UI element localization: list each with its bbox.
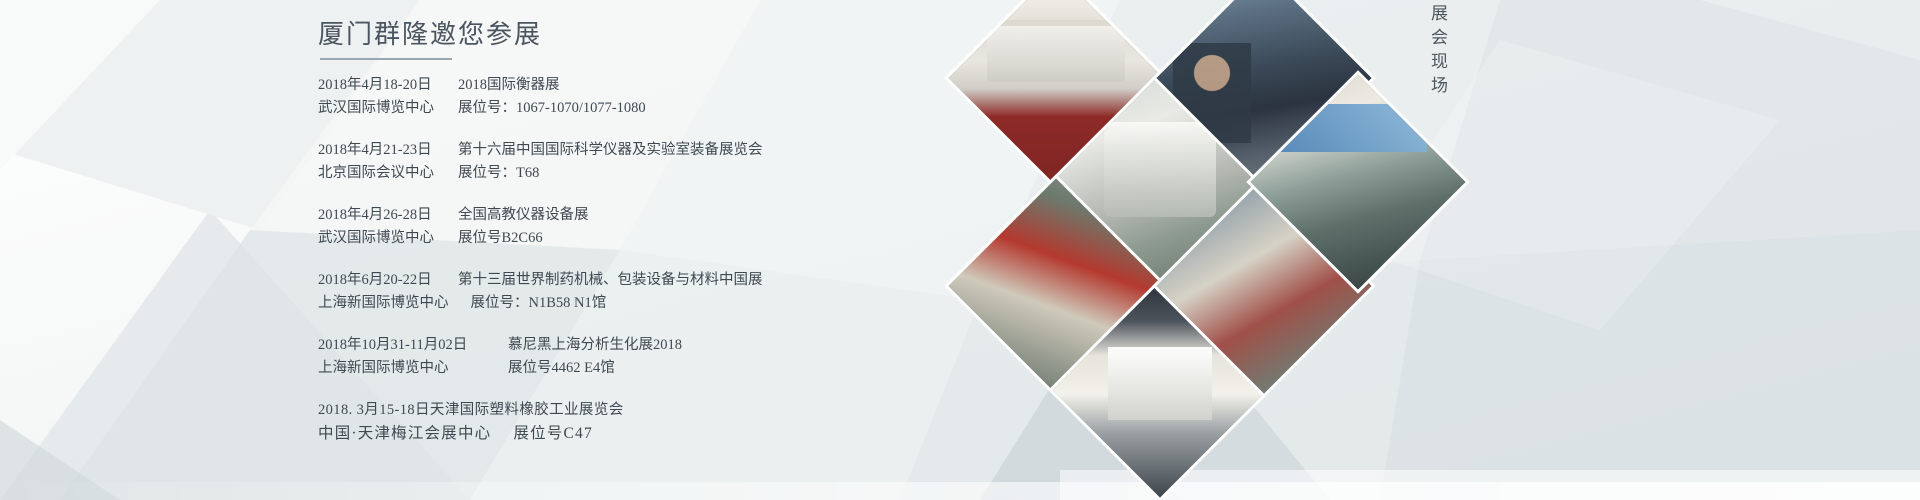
event-line-venue-booth: 中国·天津梅江会展中心展位号C47 bbox=[318, 422, 1078, 445]
gallery-vertical-label: 展会现场 bbox=[1425, 4, 1450, 100]
event-line-date-name: 2018年4月18-20日2018国际衡器展 bbox=[318, 74, 1078, 97]
event-line-date-name: 2018年10月31-11月02日慕尼黑上海分析生化展2018 bbox=[318, 334, 1078, 357]
event-booth: 展位号：T68 bbox=[458, 165, 539, 181]
event-line-venue-booth: 武汉国际博览中心展位号B2C66 bbox=[318, 227, 1078, 250]
event-item-2: 2018年4月21-23日第十六届中国国际科学仪器及实验室装备展览会 北京国际会… bbox=[318, 139, 1078, 185]
event-date: 2018. 3月15-18日天津国际塑料橡胶工业展览会 bbox=[318, 402, 624, 418]
event-line-date-name: 2018年4月26-28日全国高教仪器设备展 bbox=[318, 204, 1078, 227]
event-venue: 上海新国际博览中心 bbox=[318, 292, 449, 315]
event-date: 2018年4月21-23日 bbox=[318, 139, 436, 162]
page-title: 厦门群隆邀您参展 bbox=[318, 18, 1078, 52]
event-booth: 展位号4462 E4馆 bbox=[508, 360, 615, 376]
event-line-date-name: 2018年4月21-23日第十六届中国国际科学仪器及实验室装备展览会 bbox=[318, 139, 1078, 162]
signboard-company: 厦门群隆仪器有限公司 bbox=[970, 0, 1143, 1]
event-booth: 展位号C47 bbox=[513, 425, 593, 442]
event-item-3: 2018年4月26-28日全国高教仪器设备展 武汉国际博览中心展位号B2C66 bbox=[318, 204, 1078, 250]
event-line-venue-booth: 上海新国际博览中心展位号4462 E4馆 bbox=[318, 357, 1078, 380]
event-booth: 展位号：1067-1070/1077-1080 bbox=[458, 100, 646, 116]
event-item-1: 2018年4月18-20日2018国际衡器展 武汉国际博览中心展位号：1067-… bbox=[318, 74, 1078, 120]
event-venue: 上海新国际博览中心 bbox=[318, 357, 486, 380]
event-venue: 北京国际会议中心 bbox=[318, 162, 436, 185]
event-name: 第十三届世界制药机械、包装设备与材料中国展 bbox=[458, 272, 763, 288]
event-date: 2018年4月26-28日 bbox=[318, 204, 436, 227]
event-line-date-name: 2018. 3月15-18日天津国际塑料橡胶工业展览会 bbox=[318, 399, 1078, 422]
event-item-6: 2018. 3月15-18日天津国际塑料橡胶工业展览会 中国·天津梅江会展中心展… bbox=[318, 399, 1078, 445]
event-list-panel: 厦门群隆邀您参展 2018年4月18-20日2018国际衡器展 武汉国际博览中心… bbox=[318, 18, 1078, 488]
event-line-venue-booth: 武汉国际博览中心展位号：1067-1070/1077-1080 bbox=[318, 97, 1078, 120]
event-booth: 展位号B2C66 bbox=[458, 230, 543, 246]
event-name: 2018国际衡器展 bbox=[458, 77, 560, 93]
booth-signboard: 密度计&水分仪中国制 厦门群隆仪器有限公司 bbox=[970, 0, 1143, 20]
event-line-date-name: 2018年6月20-22日第十三届世界制药机械、包装设备与材料中国展 bbox=[318, 269, 1078, 292]
event-item-4: 2018年6月20-22日第十三届世界制药机械、包装设备与材料中国展 上海新国际… bbox=[318, 269, 1078, 315]
event-line-venue-booth: 北京国际会议中心展位号：T68 bbox=[318, 162, 1078, 185]
event-date: 2018年4月18-20日 bbox=[318, 74, 436, 97]
event-venue: 中国·天津梅江会展中心 bbox=[318, 422, 491, 445]
event-date: 2018年6月20-22日 bbox=[318, 269, 436, 292]
event-name: 第十六届中国国际科学仪器及实验室装备展览会 bbox=[458, 142, 763, 158]
event-name: 慕尼黑上海分析生化展2018 bbox=[508, 337, 682, 353]
event-date: 2018年10月31-11月02日 bbox=[318, 334, 486, 357]
event-item-5: 2018年10月31-11月02日慕尼黑上海分析生化展2018 上海新国际博览中… bbox=[318, 334, 1078, 380]
event-booth: 展位号：N1B58 N1馆 bbox=[471, 295, 607, 311]
exhibition-banner: 厦门群隆邀您参展 2018年4月18-20日2018国际衡器展 武汉国际博览中心… bbox=[0, 0, 1920, 500]
event-name: 全国高教仪器设备展 bbox=[458, 207, 589, 223]
event-line-venue-booth: 上海新国际博览中心展位号：N1B58 N1馆 bbox=[318, 292, 1078, 315]
event-venue: 武汉国际博览中心 bbox=[318, 227, 436, 250]
title-underline bbox=[320, 58, 452, 60]
event-venue: 武汉国际博览中心 bbox=[318, 97, 436, 120]
